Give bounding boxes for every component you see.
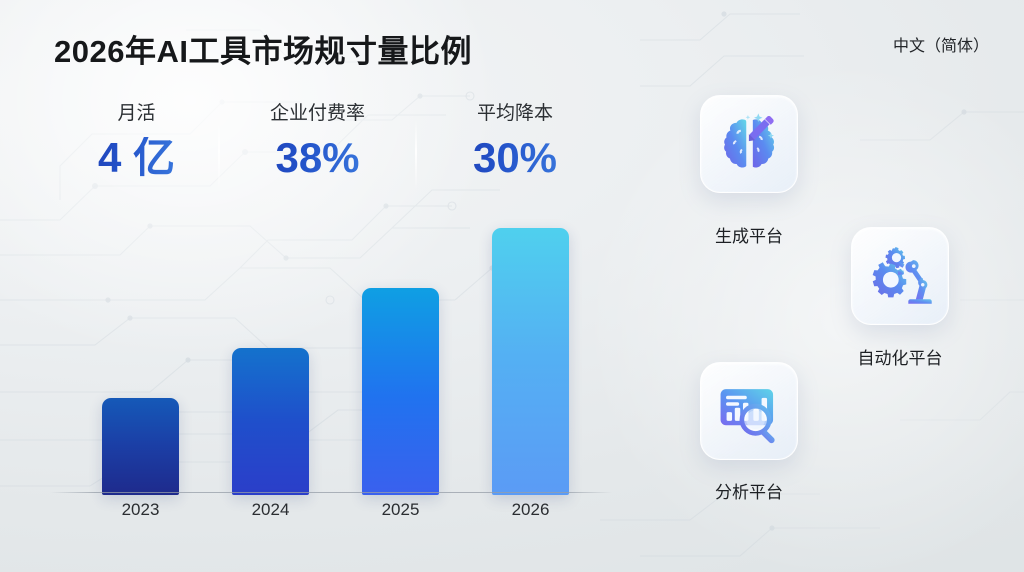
gears-robot-arm-icon [865,241,935,311]
kpi-enterprise-paid-rate: 企业付费率 38% [219,104,416,179]
platform-card-automation[interactable] [851,227,949,325]
kpi-value: 30% [416,137,614,179]
platform-label-automation: 自动化平台 [851,344,949,369]
bar-2023[interactable] [102,398,179,495]
platform-label-generation: 生成平台 [700,222,798,247]
kpi-label: 平均降本 [416,104,614,123]
platform-card-analytics[interactable] [700,362,798,460]
slide-canvas: 2026年AI工具市场规寸量比例 中文（简体） 月活 4 亿 企业付费率 38%… [0,0,1024,572]
bar-chart-magnifier-icon [714,376,784,446]
kpi-value: 38% [219,137,416,179]
brain-pencil-icon [714,109,784,179]
page-title: 2026年AI工具市场规寸量比例 [54,26,472,71]
bar-2026[interactable] [492,228,569,495]
bar-2024[interactable] [232,348,309,495]
kpi-label: 企业付费率 [219,104,416,123]
kpi-monthly-active: 月活 4 亿 [54,104,219,179]
kpi-label: 月活 [54,104,219,123]
kpi-value: 4 亿 [54,137,219,179]
chart-axis-line [50,492,612,493]
platform-label-analytics: 分析平台 [700,478,798,503]
kpi-divider [415,120,417,190]
bar-chart [50,200,615,495]
x-tick-2024: 2024 [232,500,309,520]
kpi-row: 月活 4 亿 企业付费率 38% 平均降本 30% [54,104,614,196]
language-label[interactable]: 中文（简体） [893,32,989,56]
bar-2025[interactable] [362,288,439,495]
light-glow-right [584,60,1024,572]
kpi-average-cost-reduction: 平均降本 30% [416,104,614,179]
x-tick-2025: 2025 [362,500,439,520]
platform-card-generation[interactable] [700,95,798,193]
x-tick-2023: 2023 [102,500,179,520]
x-tick-2026: 2026 [492,500,569,520]
kpi-divider [218,120,220,190]
